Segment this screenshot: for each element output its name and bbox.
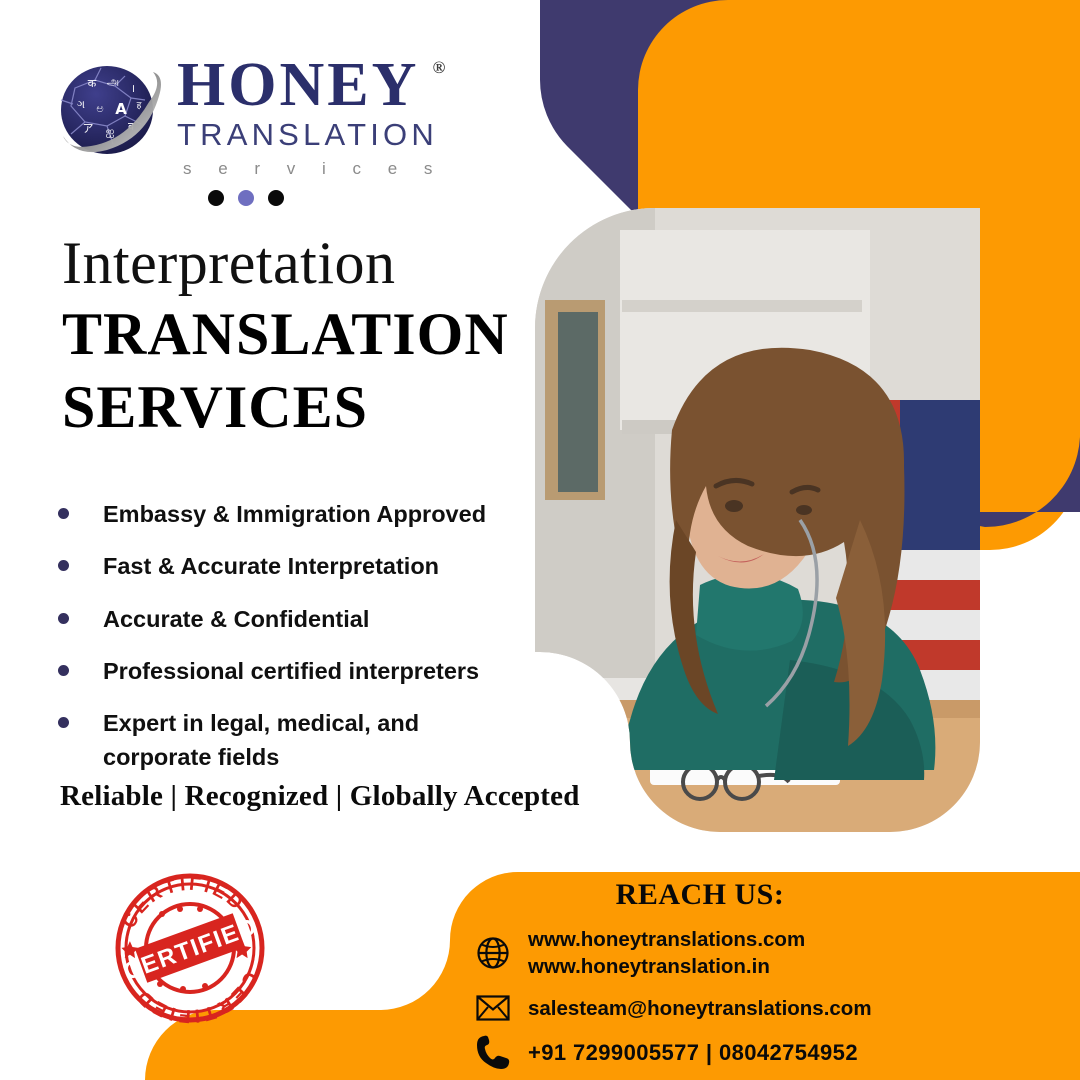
brand-logo: क அ । ગ ಅ A ह ア ஐ व HONEY® TRANSLATION s… bbox=[55, 48, 443, 179]
feature-list: Embassy & Immigration Approved Fast & Ac… bbox=[58, 498, 528, 793]
contact-block: REACH US: www.honeytranslations.com www.… bbox=[470, 878, 1070, 1070]
list-item: Professional certified interpreters bbox=[58, 655, 528, 688]
list-item: Accurate & Confidential bbox=[58, 603, 528, 636]
reach-us-title: REACH US: bbox=[470, 878, 930, 912]
list-item: Expert in legal, medical, and corporate … bbox=[58, 707, 528, 774]
svg-text:A: A bbox=[115, 100, 127, 118]
logo-wordmark-text: HONEY bbox=[177, 51, 419, 119]
list-item: Fast & Accurate Interpretation bbox=[58, 550, 528, 583]
feature-text: Expert in legal, medical, and corporate … bbox=[103, 707, 458, 774]
headline-line-2: SERVICES bbox=[62, 374, 509, 441]
website-lines: www.honeytranslations.com www.honeytrans… bbox=[528, 926, 805, 980]
phone-icon bbox=[470, 1034, 516, 1070]
svg-text:ગ: ગ bbox=[77, 98, 85, 111]
list-item: Embassy & Immigration Approved bbox=[58, 498, 528, 531]
website-secondary[interactable]: www.honeytranslation.in bbox=[528, 955, 770, 978]
photo-frame bbox=[535, 208, 985, 832]
feature-text: Fast & Accurate Interpretation bbox=[103, 550, 439, 583]
feature-text: Professional certified interpreters bbox=[103, 655, 479, 688]
email-address[interactable]: salesteam@honeytranslations.com bbox=[528, 995, 872, 1022]
svg-text:அ: அ bbox=[107, 75, 119, 88]
decor-dot-1 bbox=[208, 190, 224, 206]
decor-dot-3 bbox=[268, 190, 284, 206]
decor-dot-2 bbox=[238, 190, 254, 206]
headline-block: Interpretation TRANSLATION SERVICES bbox=[62, 232, 509, 441]
contact-row-phone[interactable]: +91 7299005577 | 08042754952 bbox=[470, 1034, 1070, 1070]
bullet-dot-icon bbox=[58, 613, 69, 624]
envelope-icon bbox=[470, 994, 516, 1022]
globe-languages-icon: क அ । ગ ಅ A ह ア ஐ व bbox=[55, 52, 163, 160]
feature-text: Embassy & Immigration Approved bbox=[103, 498, 486, 531]
headline-line-1: TRANSLATION bbox=[62, 301, 509, 368]
svg-text:ಅ: ಅ bbox=[96, 102, 103, 115]
decor-dots bbox=[208, 190, 284, 206]
bullet-dot-icon bbox=[58, 508, 69, 519]
website-primary[interactable]: www.honeytranslations.com bbox=[528, 928, 805, 951]
svg-text:क: क bbox=[88, 77, 97, 90]
svg-text:ஐ: ஐ bbox=[106, 125, 115, 138]
contact-row-email[interactable]: salesteam@honeytranslations.com bbox=[470, 994, 1070, 1022]
logo-wordmark: HONEY® bbox=[177, 56, 419, 115]
phone-numbers[interactable]: +91 7299005577 | 08042754952 bbox=[528, 1038, 858, 1067]
svg-text:।: । bbox=[131, 82, 135, 95]
certified-stamp-icon: CERTIFIED CERTIFIED CERTIFIED bbox=[105, 868, 275, 1028]
bullet-dot-icon bbox=[58, 665, 69, 676]
registered-trademark-icon: ® bbox=[433, 60, 446, 76]
logo-subtitle: TRANSLATION bbox=[177, 117, 443, 153]
bullet-dot-icon bbox=[58, 717, 69, 728]
svg-text:ह: ह bbox=[137, 101, 142, 111]
logo-services-label: s e r v i c e s bbox=[177, 159, 443, 179]
contact-row-website[interactable]: www.honeytranslations.com www.honeytrans… bbox=[470, 926, 1070, 980]
feature-text: Accurate & Confidential bbox=[103, 603, 369, 636]
headline-script: Interpretation bbox=[62, 232, 509, 295]
tagline: Reliable | Recognized | Globally Accepte… bbox=[60, 780, 580, 813]
globe-icon bbox=[470, 936, 516, 970]
svg-text:ア: ア bbox=[83, 122, 94, 135]
poster-canvas: क அ । ગ ಅ A ह ア ஐ व HONEY® TRANSLATION s… bbox=[0, 0, 1080, 1080]
bullet-dot-icon bbox=[58, 560, 69, 571]
